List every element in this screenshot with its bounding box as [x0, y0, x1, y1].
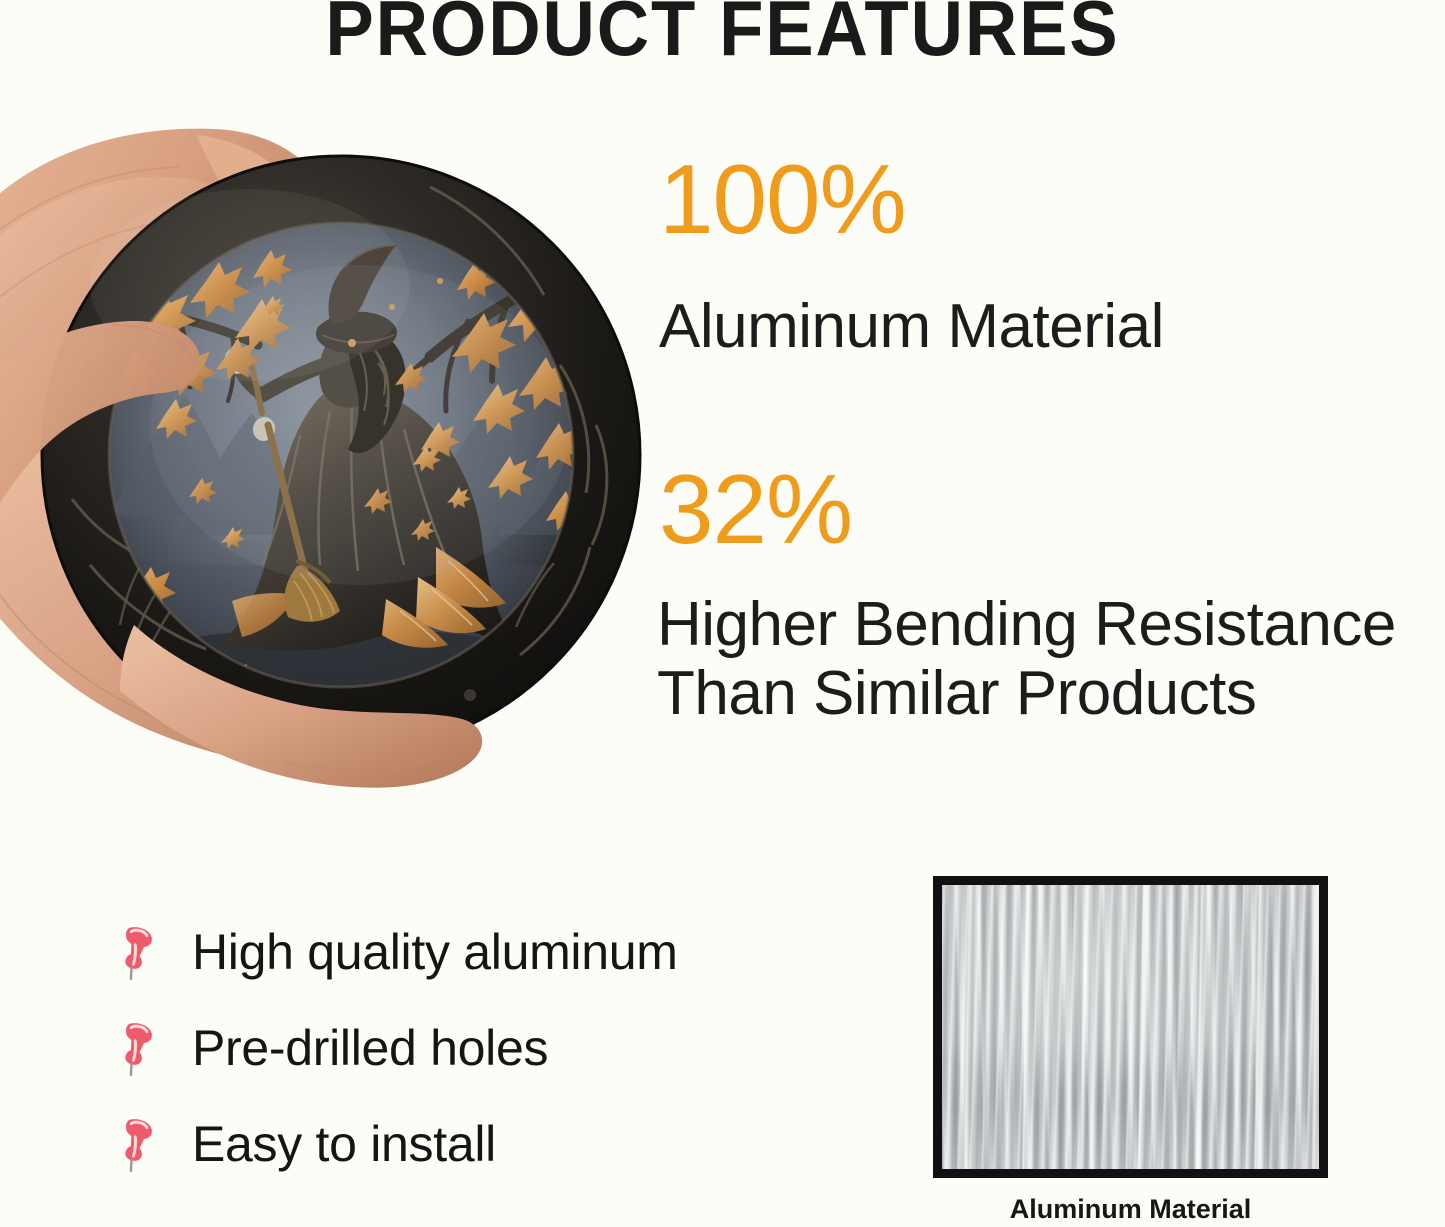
- feature-bullet-list: High quality aluminum Pre-drilled holes: [110, 915, 678, 1203]
- aluminum-swatch-caption: Aluminum Material: [933, 1194, 1328, 1225]
- list-item: Easy to install: [110, 1107, 678, 1181]
- list-item-label: High quality aluminum: [192, 923, 678, 981]
- product-photo: [0, 95, 660, 795]
- page-title: PRODUCT FEATURES: [51, 0, 1395, 70]
- swatch-highlight: [942, 885, 1319, 1169]
- pushpin-icon: [110, 1020, 160, 1076]
- stat-desc-bending-wrap: Higher Bending Resistance Than Similar P…: [657, 590, 1396, 729]
- stat-desc-aluminum-material: Aluminum Material: [659, 292, 1164, 361]
- pushpin-icon: [110, 924, 160, 980]
- product-features-page: PRODUCT FEATURES: [0, 0, 1445, 1227]
- aluminum-swatch: Aluminum Material: [933, 876, 1328, 1225]
- aluminum-swatch-image: [933, 876, 1328, 1178]
- stat-desc-line-2: Than Similar Products: [657, 659, 1396, 728]
- list-item: Pre-drilled holes: [110, 1011, 678, 1085]
- list-item: High quality aluminum: [110, 915, 678, 989]
- stat-value-100-percent: 100%: [659, 150, 906, 250]
- stat-value-32-percent: 32%: [659, 460, 852, 560]
- list-item-label: Easy to install: [192, 1115, 496, 1173]
- pushpin-icon: [110, 1116, 160, 1172]
- list-item-label: Pre-drilled holes: [192, 1019, 548, 1077]
- stat-desc-line-1: Higher Bending Resistance: [657, 590, 1396, 659]
